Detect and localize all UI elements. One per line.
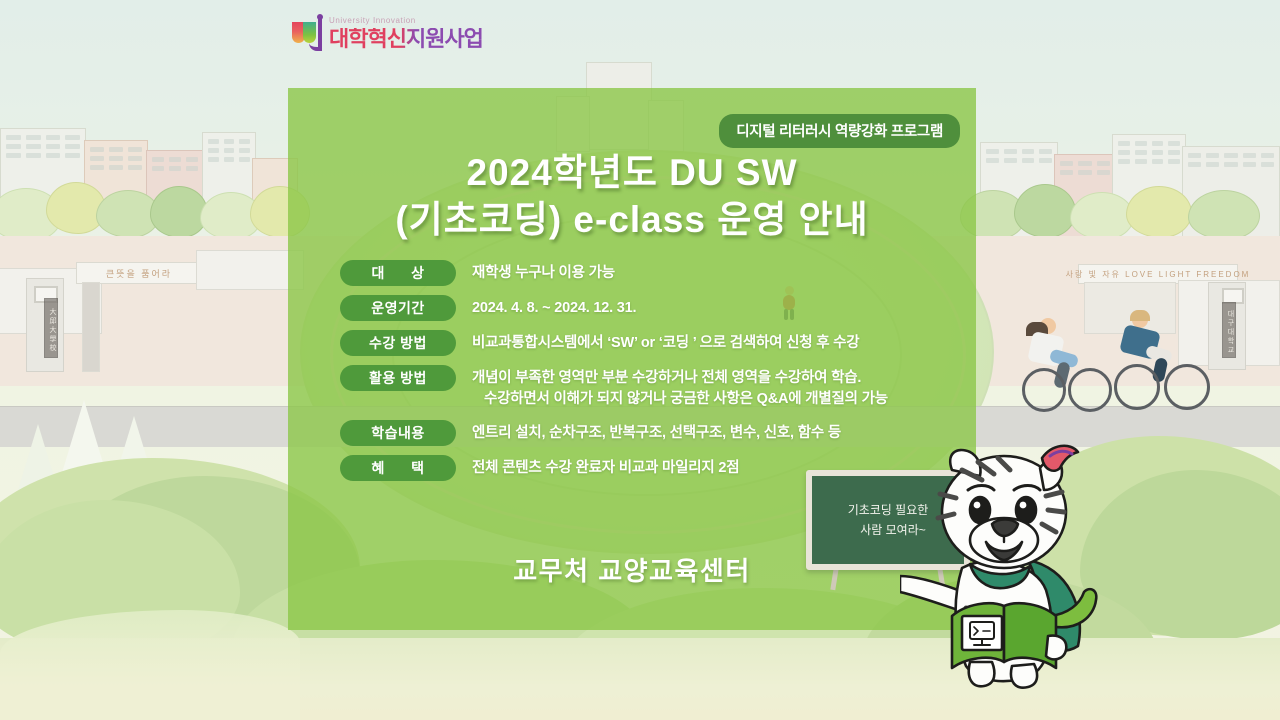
info-value-line-1: 비교과통합시스템에서 ‘SW’ or ‘코딩 ’ 으로 검색하여 신청 후 수강 — [472, 335, 859, 351]
info-value: 엔트리 설치, 순차구조, 반복구조, 선택구조, 변수, 신호, 함수 등 — [456, 420, 958, 444]
mascot-leg-right — [1011, 664, 1037, 688]
info-value: 비교과통합시스템에서 ‘SW’ or ‘코딩 ’ 으로 검색하여 신청 후 수강 — [456, 330, 958, 354]
info-row: 수강 방법 비교과통합시스템에서 ‘SW’ or ‘코딩 ’ 으로 검색하여 신… — [340, 330, 958, 356]
logo-wordmark: University Innovation 대학혁신지원사업 — [329, 17, 483, 50]
title-line-1: 2024학년도 DU SW — [466, 152, 797, 193]
left-gate-wall-b — [82, 282, 100, 372]
building-block — [202, 132, 256, 224]
right-gate-emblem — [1222, 288, 1244, 304]
info-row: 대 상 재학생 누구나 이용 가능 — [340, 260, 958, 286]
info-value-line-1: 개념이 부족한 영역만 부분 수강하거나 전체 영역을 수강하여 학습. — [472, 370, 861, 386]
info-label: 대 상 — [340, 260, 456, 286]
white-tiger-mascot — [900, 440, 1140, 690]
building-block — [1182, 146, 1280, 238]
logo-english-text: University Innovation — [329, 17, 483, 25]
right-gate-left-wall — [1084, 282, 1176, 334]
tree — [150, 186, 208, 238]
building-block — [1054, 154, 1116, 238]
mascot-eye-left — [970, 497, 990, 523]
title-line-2: (기초코딩) e-class 운영 안내 — [288, 197, 976, 244]
tree — [1188, 190, 1260, 240]
info-value-line-1: 2024. 4. 8. ~ 2024. 12. 31. — [472, 300, 636, 316]
page-title: 2024학년도 DU SW (기초코딩) e-class 운영 안내 — [288, 150, 976, 243]
info-table: 대 상 재학생 누구나 이용 가능 운영기간 2024. 4. 8. ~ 202… — [340, 260, 958, 490]
building-block — [1112, 134, 1186, 238]
logo-korean-text: 대학혁신지원사업 — [329, 28, 483, 50]
tree — [96, 190, 160, 238]
tree — [46, 182, 106, 234]
left-gate-emblem — [34, 286, 58, 303]
right-gate-beam: 사랑 빛 자유 LOVE LIGHT FREEDOM — [1078, 264, 1238, 284]
right-gate-plaque: 대구대학교 — [1222, 302, 1236, 358]
tree — [1070, 192, 1134, 240]
info-row: 활용 방법 개념이 부족한 영역만 부분 수강하거나 전체 영역을 수강하여 학… — [340, 365, 958, 410]
left-gate-wall — [0, 268, 102, 334]
university-innovation-logo: University Innovation 대학혁신지원사업 — [292, 16, 483, 50]
hedge-mass — [0, 500, 240, 660]
info-row: 운영기간 2024. 4. 8. ~ 2024. 12. 31. — [340, 295, 958, 321]
right-gate-wall — [1178, 280, 1280, 366]
info-value: 재학생 누구나 이용 가능 — [456, 260, 958, 284]
info-label: 혜 택 — [340, 455, 456, 481]
cyclist-figure-a — [1016, 318, 1108, 414]
mascot-leg-left — [969, 662, 995, 686]
mascot-left-arm — [900, 576, 958, 610]
conifer-tree — [58, 400, 110, 486]
mascot-right-hand — [1046, 636, 1066, 660]
info-value-line-1: 전체 콘텐츠 수강 완료자 비교과 마일리지 2점 — [472, 460, 739, 476]
building-block — [980, 142, 1058, 238]
left-gate-text: 큰뜻을 품어라 — [106, 267, 172, 280]
tree — [1126, 186, 1192, 238]
info-label: 수강 방법 — [340, 330, 456, 356]
cyclist-figure-b — [1110, 312, 1208, 412]
right-gate-pillar — [1208, 282, 1246, 370]
info-row: 학습내용 엔트리 설치, 순차구조, 반복구조, 선택구조, 변수, 신호, 함… — [340, 420, 958, 446]
info-value-line-1: 엔트리 설치, 순차구조, 반복구조, 선택구조, 변수, 신호, 함수 등 — [472, 425, 841, 441]
tree — [1014, 184, 1076, 238]
info-value: 2024. 4. 8. ~ 2024. 12. 31. — [456, 295, 958, 319]
conifer-tree — [18, 424, 58, 490]
tree — [0, 188, 62, 242]
building-block — [84, 140, 148, 224]
mascot-crest — [1042, 446, 1078, 471]
program-badge: 디지털 리터러시 역량강화 프로그램 — [719, 114, 960, 148]
left-gate-plaque: 大邱大學校 — [44, 298, 58, 358]
info-value: 개념이 부족한 영역만 부분 수강하거나 전체 영역을 수강하여 학습. 수강하… — [456, 365, 958, 410]
info-value-line-2: 수강하면서 이해가 되지 않거나 궁금한 사항은 Q&A에 개별질의 가능 — [472, 389, 958, 410]
foreground-grass-left — [0, 610, 300, 720]
info-label: 운영기간 — [340, 295, 456, 321]
info-label: 학습내용 — [340, 420, 456, 446]
uj-monogram-icon — [292, 16, 322, 50]
poster-canvas: 큰뜻을 품어라 大邱大學校 사랑 빛 자유 LOVE LIGHT FREEDOM… — [0, 0, 1280, 720]
info-value-line-1: 재학생 누구나 이용 가능 — [472, 265, 615, 281]
conifer-tree — [112, 416, 156, 488]
left-gate-pillar — [26, 278, 64, 372]
tree — [200, 192, 262, 240]
left-gate-beam: 큰뜻을 품어라 — [76, 262, 202, 284]
right-gate-text: 사랑 빛 자유 LOVE LIGHT FREEDOM — [1066, 269, 1251, 280]
building-block — [146, 150, 204, 224]
info-label: 활용 방법 — [340, 365, 456, 391]
building-block — [0, 128, 86, 224]
